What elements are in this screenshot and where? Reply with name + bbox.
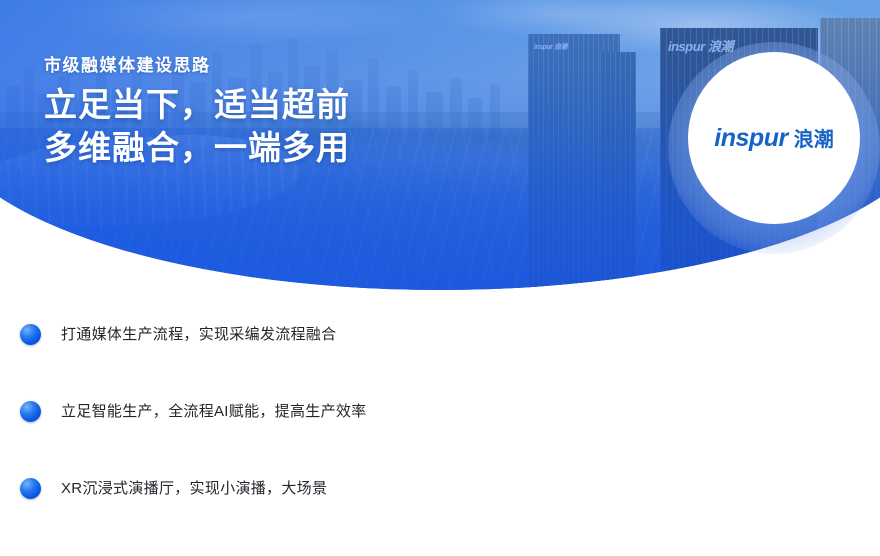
logo-wordmark-en: inspur [714, 124, 787, 153]
inspur-logo-badge: inspur 浪潮 [688, 52, 860, 224]
bullet-text: XR沉浸式演播厅，实现小演播，大场景 [61, 478, 327, 499]
list-item: XR沉浸式演播厅，实现小演播，大场景 [0, 450, 470, 527]
list-item: 多维拓展，建设城市文化传播平台 [470, 450, 880, 527]
bullet-text: 打通媒体生产流程，实现采编发流程融合 [61, 324, 336, 345]
list-item: 打通媒体生产流程，实现采编发流程融合 [0, 296, 470, 373]
list-item: 模块化数据机房，方便拓展扩容 [470, 373, 880, 450]
eyebrow-label: 市级融媒体建设思路 [44, 56, 350, 76]
list-item: 媒体赋能，建设以媒体生产制作为核心的媒体+ [470, 296, 880, 373]
bullet-grid: 打通媒体生产流程，实现采编发流程融合 媒体赋能，建设以媒体生产制作为核心的媒体+… [0, 296, 880, 527]
bullet-dot-icon [20, 401, 41, 422]
logo-wordmark-cn: 浪潮 [794, 123, 834, 152]
bullet-text: 立足智能生产，全流程AI赋能，提高生产效率 [61, 401, 366, 422]
bullet-dot-icon [20, 478, 41, 499]
headline-line-2: 多维融合，一端多用 [44, 127, 350, 169]
headline-line-1: 立足当下，适当超前 [44, 84, 350, 126]
list-item: 立足智能生产，全流程AI赋能，提高生产效率 [0, 373, 470, 450]
header-text-block: 市级融媒体建设思路 立足当下，适当超前 多维融合，一端多用 [44, 56, 350, 169]
slide-root: inspur 浪潮 inspur 浪潮 市级融媒体建设思路 立足当下，适当超前 … [0, 0, 880, 556]
inspur-logo: inspur 浪潮 [714, 123, 833, 153]
bullet-dot-icon [20, 324, 41, 345]
